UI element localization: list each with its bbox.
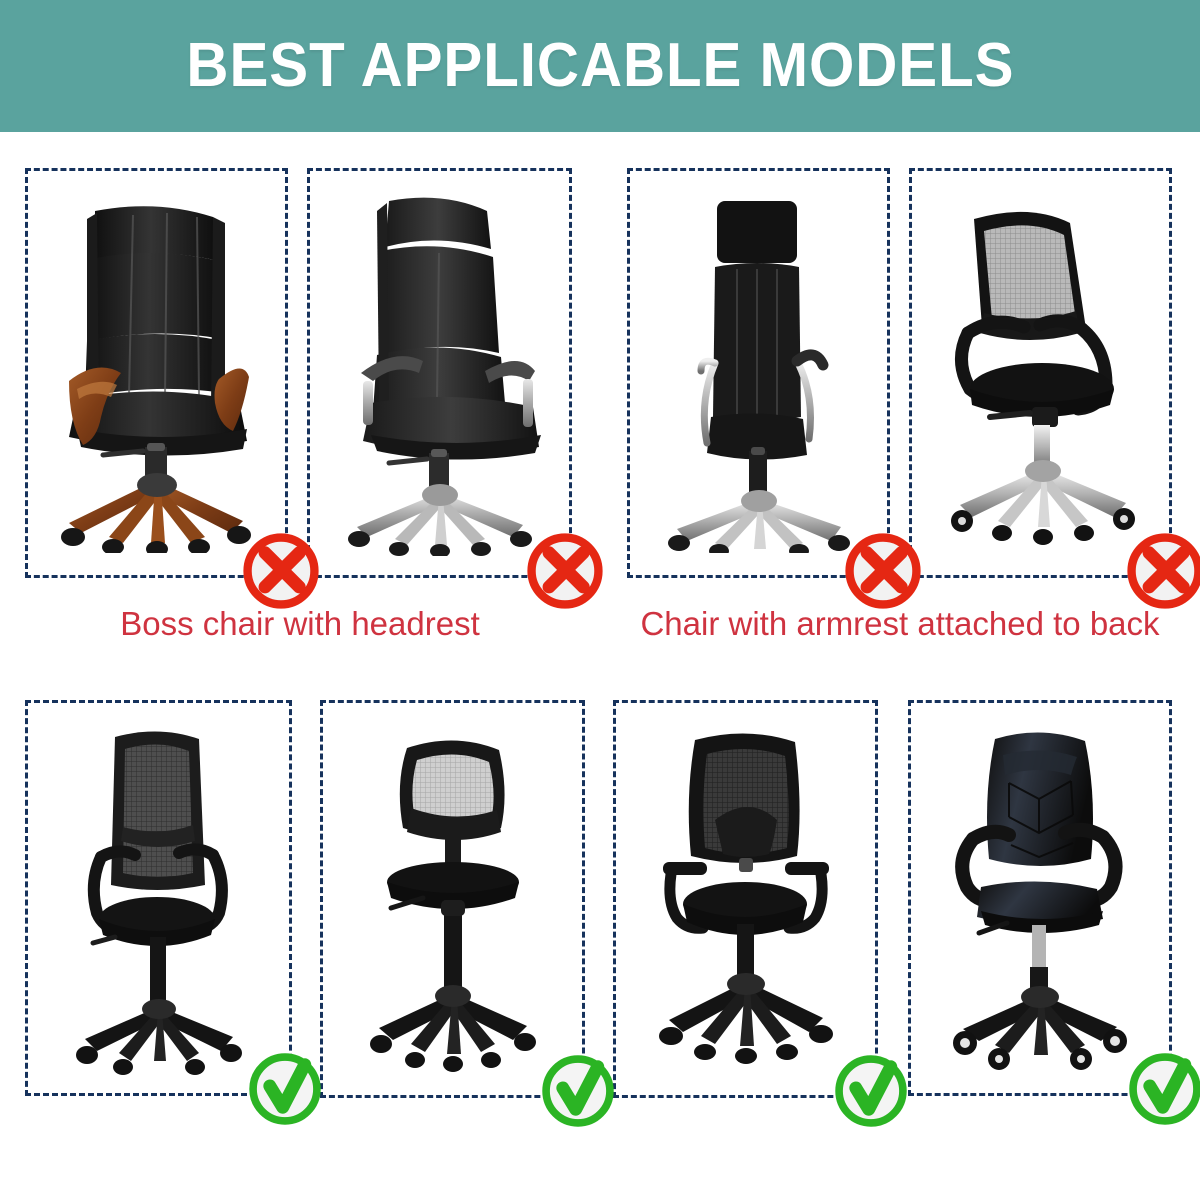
- chair-image-boss-high-back: [310, 171, 569, 575]
- red-x-icon: [845, 533, 921, 609]
- red-x-icon: [1127, 533, 1200, 609]
- panel-boss-high-back[interactable]: [307, 168, 572, 578]
- infographic-page: BEST APPLICABLE MODELS: [0, 0, 1200, 1200]
- chair-image-mesh-task-armrest: [28, 703, 289, 1093]
- panel-mesh-task-armrest[interactable]: [25, 700, 292, 1096]
- green-check-icon: [540, 1053, 616, 1129]
- header-banner: BEST APPLICABLE MODELS: [0, 0, 1200, 132]
- caption-chair-with-armrest-attached-to-back: Chair with armrest attached to back: [600, 605, 1200, 643]
- green-check-icon: [1127, 1051, 1200, 1127]
- row-not-applicable: [0, 168, 1200, 578]
- chair-image-mesh-armless: [323, 703, 582, 1095]
- chair-image-mesh-wide-armrest: [616, 703, 875, 1095]
- panel-mesh-armless[interactable]: [320, 700, 585, 1098]
- panel-tall-back-armrest-to-back[interactable]: [627, 168, 890, 578]
- chair-image-boss-wood-arm: [28, 171, 285, 575]
- green-check-icon: [833, 1053, 909, 1129]
- chair-image-mesh-armrest-to-back: [912, 171, 1169, 575]
- caption-boss-chair-with-headrest: Boss chair with headrest: [0, 605, 600, 643]
- page-title: BEST APPLICABLE MODELS: [186, 35, 1014, 97]
- chair-image-tufted-leather-loop-arm: [911, 703, 1169, 1093]
- panel-tufted-leather-loop-arm[interactable]: [908, 700, 1172, 1096]
- panel-boss-wood-arm[interactable]: [25, 168, 288, 578]
- chair-image-tall-back-armrest: [630, 171, 887, 575]
- panel-mesh-armrest-to-back[interactable]: [909, 168, 1172, 578]
- panel-mesh-wide-armrest[interactable]: [613, 700, 878, 1098]
- green-check-icon: [247, 1051, 323, 1127]
- red-x-icon: [243, 533, 319, 609]
- row-applicable: [0, 700, 1200, 1096]
- red-x-icon: [527, 533, 603, 609]
